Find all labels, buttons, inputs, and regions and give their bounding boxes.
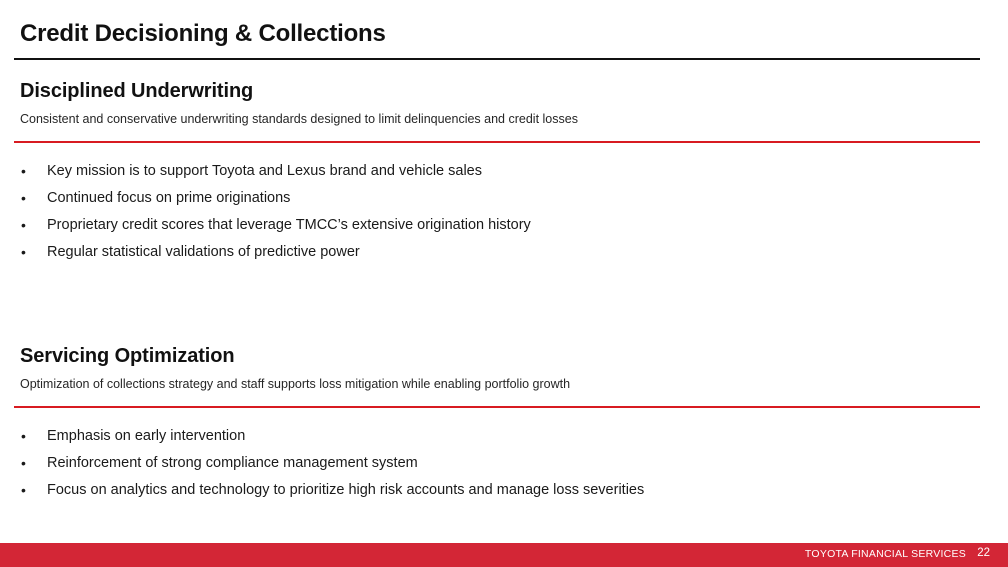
list-item-label: Reinforcement of strong compliance manag…	[47, 450, 418, 477]
title-divider	[14, 58, 980, 60]
list-item: • Key mission is to support Toyota and L…	[0, 158, 1008, 185]
list-item-label: Emphasis on early intervention	[47, 423, 245, 450]
list-item-label: Regular statistical validations of predi…	[47, 239, 360, 266]
bullet-list: • Key mission is to support Toyota and L…	[0, 158, 1008, 266]
page-title: Credit Decisioning & Collections	[20, 20, 386, 48]
section-subheading: Consistent and conservative underwriting…	[20, 112, 578, 126]
bullet-marker-icon: •	[21, 423, 26, 450]
list-item: • Focus on analytics and technology to p…	[0, 477, 1008, 504]
list-item-label: Proprietary credit scores that leverage …	[47, 212, 531, 239]
section-heading: Disciplined Underwriting	[20, 80, 253, 103]
list-item-label: Key mission is to support Toyota and Lex…	[47, 158, 482, 185]
footer-bar: TOYOTA FINANCIAL SERVICES 22	[0, 543, 1008, 567]
section-divider	[14, 141, 980, 143]
list-item-label: Focus on analytics and technology to pri…	[47, 477, 644, 504]
bullet-marker-icon: •	[21, 477, 26, 504]
bullet-marker-icon: •	[21, 212, 26, 239]
list-item: • Emphasis on early intervention	[0, 423, 1008, 450]
slide-canvas: Credit Decisioning & Collections Discipl…	[0, 0, 1008, 567]
footer-brand-label: TOYOTA FINANCIAL SERVICES	[805, 548, 966, 560]
list-item-label: Continued focus on prime originations	[47, 185, 290, 212]
section-heading: Servicing Optimization	[20, 345, 235, 368]
bullet-marker-icon: •	[21, 158, 26, 185]
list-item: • Proprietary credit scores that leverag…	[0, 212, 1008, 239]
page-number: 22	[977, 547, 990, 559]
list-item: • Reinforcement of strong compliance man…	[0, 450, 1008, 477]
bullet-marker-icon: •	[21, 239, 26, 266]
list-item: • Continued focus on prime originations	[0, 185, 1008, 212]
bullet-marker-icon: •	[21, 450, 26, 477]
bullet-list: • Emphasis on early intervention • Reinf…	[0, 423, 1008, 504]
section-divider	[14, 406, 980, 408]
list-item: • Regular statistical validations of pre…	[0, 239, 1008, 266]
section-subheading: Optimization of collections strategy and…	[20, 377, 570, 391]
bullet-marker-icon: •	[21, 185, 26, 212]
